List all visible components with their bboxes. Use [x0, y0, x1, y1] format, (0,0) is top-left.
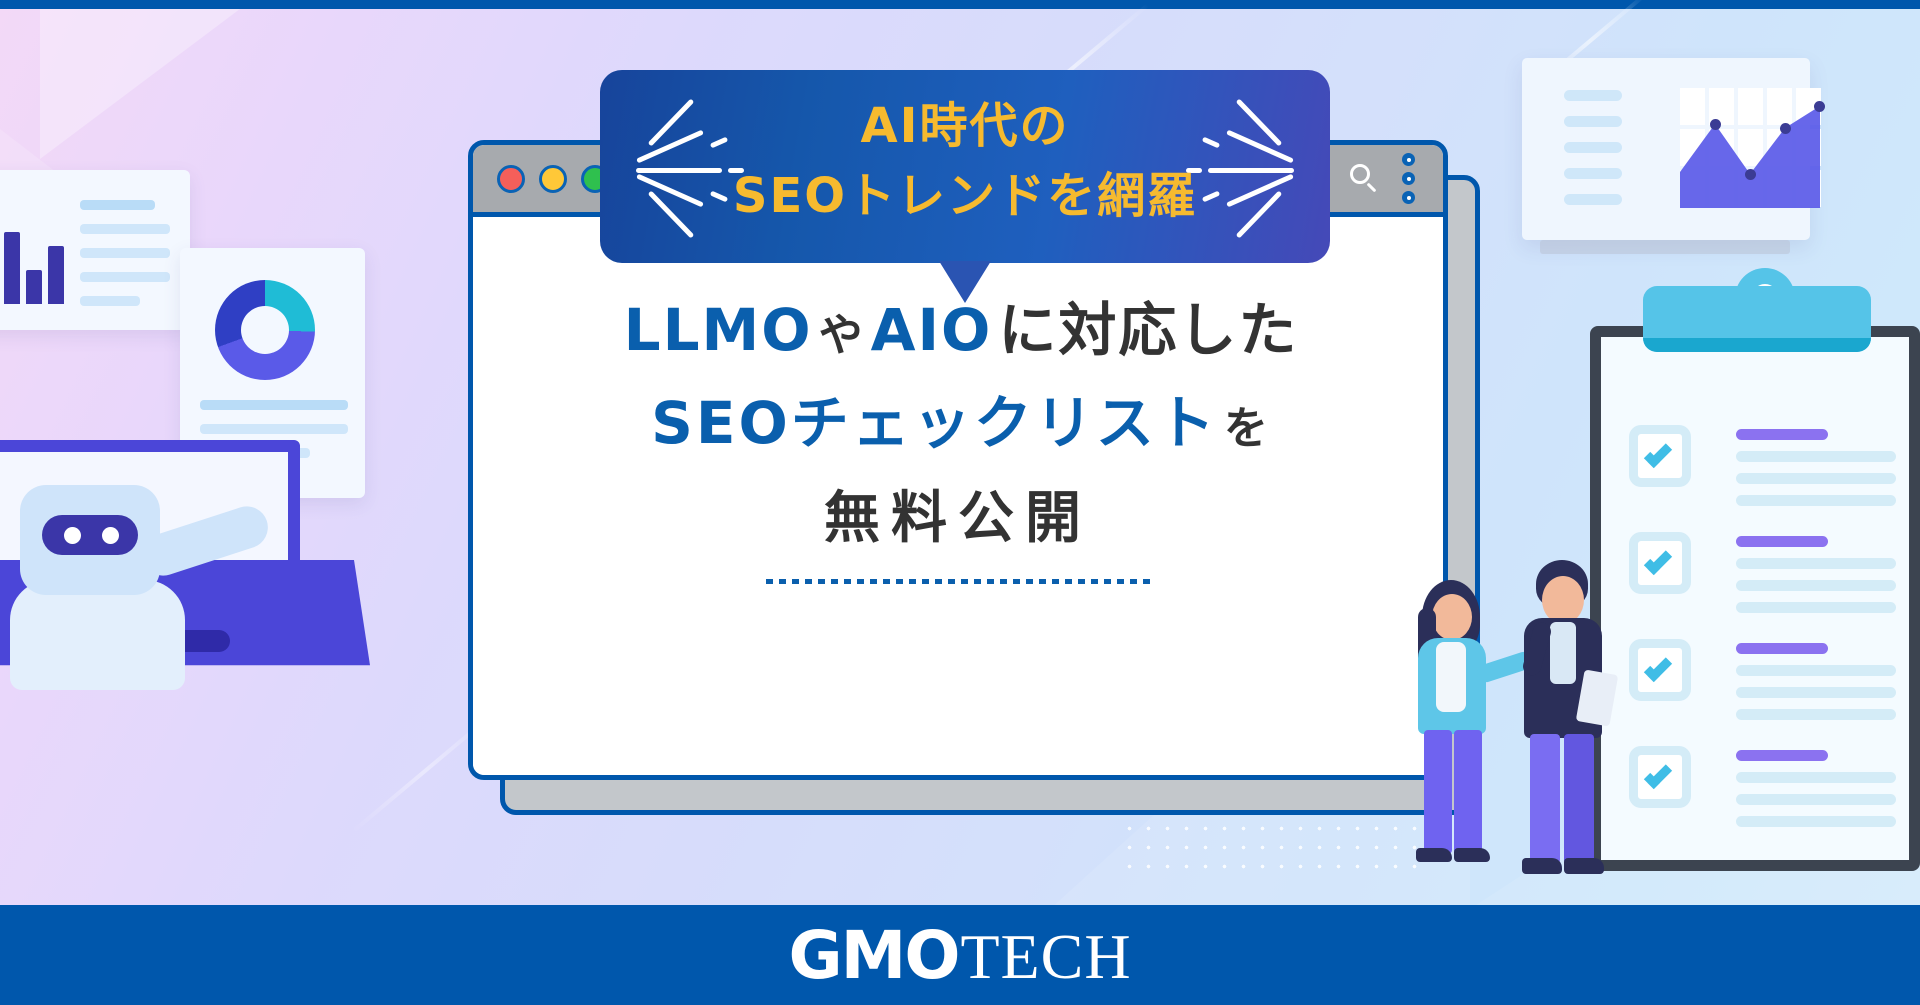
mini-bar [48, 246, 64, 304]
chart-area-series [1680, 88, 1820, 208]
checklist-item-line [1736, 709, 1896, 720]
gmo-tech-logo: GMO TECH [788, 917, 1131, 994]
card-text-line [1564, 90, 1622, 101]
logo-gmo: GMO [788, 917, 958, 994]
card-text-line [80, 272, 170, 282]
checklist-item-line [1736, 495, 1896, 506]
shoe-right [1454, 848, 1490, 862]
promo-badge-line-2: SEOトレンドを網羅 [720, 162, 1210, 232]
checkbox-checked[interactable] [1629, 639, 1691, 701]
leg-left [1530, 734, 1560, 864]
bg-triangle-1 [40, 9, 240, 159]
headline-keyword-llmo: LLMO [618, 295, 819, 366]
marketing-banner: LLMOやAIOに対応した SEOチェックリストを 無料公開 [0, 0, 1920, 1005]
checklist-item-title [1736, 536, 1828, 547]
head [1432, 594, 1472, 640]
check-icon [1644, 440, 1672, 468]
chart-data-point [1780, 123, 1791, 134]
checklist-item-line [1736, 580, 1896, 591]
window-controls[interactable] [497, 165, 609, 193]
person-woman-pointing [1400, 580, 1510, 900]
checklist-item-line [1736, 772, 1896, 783]
clipboard-body [1590, 326, 1920, 871]
card-text-line [1564, 194, 1622, 205]
shirt [1550, 622, 1576, 684]
checklist-item-title [1736, 750, 1828, 761]
checklist-item-line [1736, 602, 1896, 613]
headline-keyword-checklist: SEOチェックリスト [645, 388, 1224, 459]
card-text-line [80, 248, 170, 258]
robot-eye-right [102, 527, 119, 544]
card-text-line [1564, 116, 1622, 127]
checklist-item-title [1736, 643, 1828, 654]
headline-line-2: SEOチェックリストを [473, 388, 1443, 459]
minimize-dot[interactable] [539, 165, 567, 193]
checklist-item-line [1736, 794, 1896, 805]
headline-dotted-underline [766, 579, 1150, 584]
person-man-standing [1510, 560, 1630, 900]
checklist-item-title [1736, 429, 1828, 440]
shoe-right [1564, 858, 1604, 874]
checkbox-checked[interactable] [1629, 746, 1691, 808]
chart-data-point [1710, 119, 1721, 130]
headline-particle-wo: を [1224, 403, 1271, 454]
leg-left [1424, 730, 1452, 854]
shirt [1436, 642, 1466, 712]
kebab-menu-icon[interactable] [1402, 153, 1415, 204]
checklist-item-line [1736, 816, 1896, 827]
headline-line-3: 無料公開 [473, 485, 1443, 553]
headline-particle-ya: や [819, 310, 865, 361]
close-dot[interactable] [497, 165, 525, 193]
check-icon [1644, 547, 1672, 575]
analytics-chart-card [1522, 58, 1810, 240]
checklist-item-line [1736, 473, 1896, 484]
checklist-item-line [1736, 665, 1896, 676]
mini-bar [26, 270, 42, 304]
bar-chart-card [0, 170, 190, 330]
robot-eye-left [64, 527, 81, 544]
promo-badge-line-1: AI時代の [720, 92, 1210, 162]
head [1542, 576, 1584, 624]
robot-visor [42, 515, 138, 555]
promo-badge: AI時代の SEOトレンドを網羅 [600, 70, 1330, 263]
headline-keyword-aio: AIO [865, 295, 999, 366]
donut-chart-icon [215, 280, 315, 380]
headline-line-1-tail: に対応した [998, 296, 1298, 364]
checklist-item-line [1736, 687, 1896, 698]
shoe-left [1522, 858, 1562, 874]
footer-bar: GMO TECH [0, 905, 1920, 1005]
shoe-left [1416, 848, 1452, 862]
card-text-line [200, 424, 348, 434]
card-text-line [1564, 168, 1622, 179]
headline-line-1: LLMOやAIOに対応した [473, 295, 1443, 366]
tablet [1576, 669, 1619, 726]
mini-bar [4, 232, 20, 304]
chart-card-shadow [1540, 240, 1790, 254]
checkbox-checked[interactable] [1629, 425, 1691, 487]
card-text-line [80, 296, 140, 306]
card-text-line [80, 200, 155, 210]
logo-tech: TECH [960, 920, 1131, 994]
card-text-line [80, 224, 170, 234]
checkbox-checked[interactable] [1629, 532, 1691, 594]
promo-badge-text: AI時代の SEOトレンドを網羅 [720, 92, 1210, 231]
leg-right [1454, 730, 1482, 854]
checklist-item-line [1736, 558, 1896, 569]
robot-body [10, 580, 185, 690]
clipboard-clip [1643, 286, 1871, 352]
checklist-item-line [1736, 451, 1896, 462]
card-text-line [200, 400, 348, 410]
check-icon [1644, 654, 1672, 682]
check-icon [1644, 761, 1672, 789]
chart-data-point [1814, 101, 1825, 112]
chart-data-point [1745, 169, 1756, 180]
leg-right [1564, 734, 1594, 864]
card-text-line [1564, 142, 1622, 153]
search-icon[interactable] [1350, 164, 1380, 194]
headline-block: LLMOやAIOに対応した SEOチェックリストを 無料公開 [473, 295, 1443, 584]
